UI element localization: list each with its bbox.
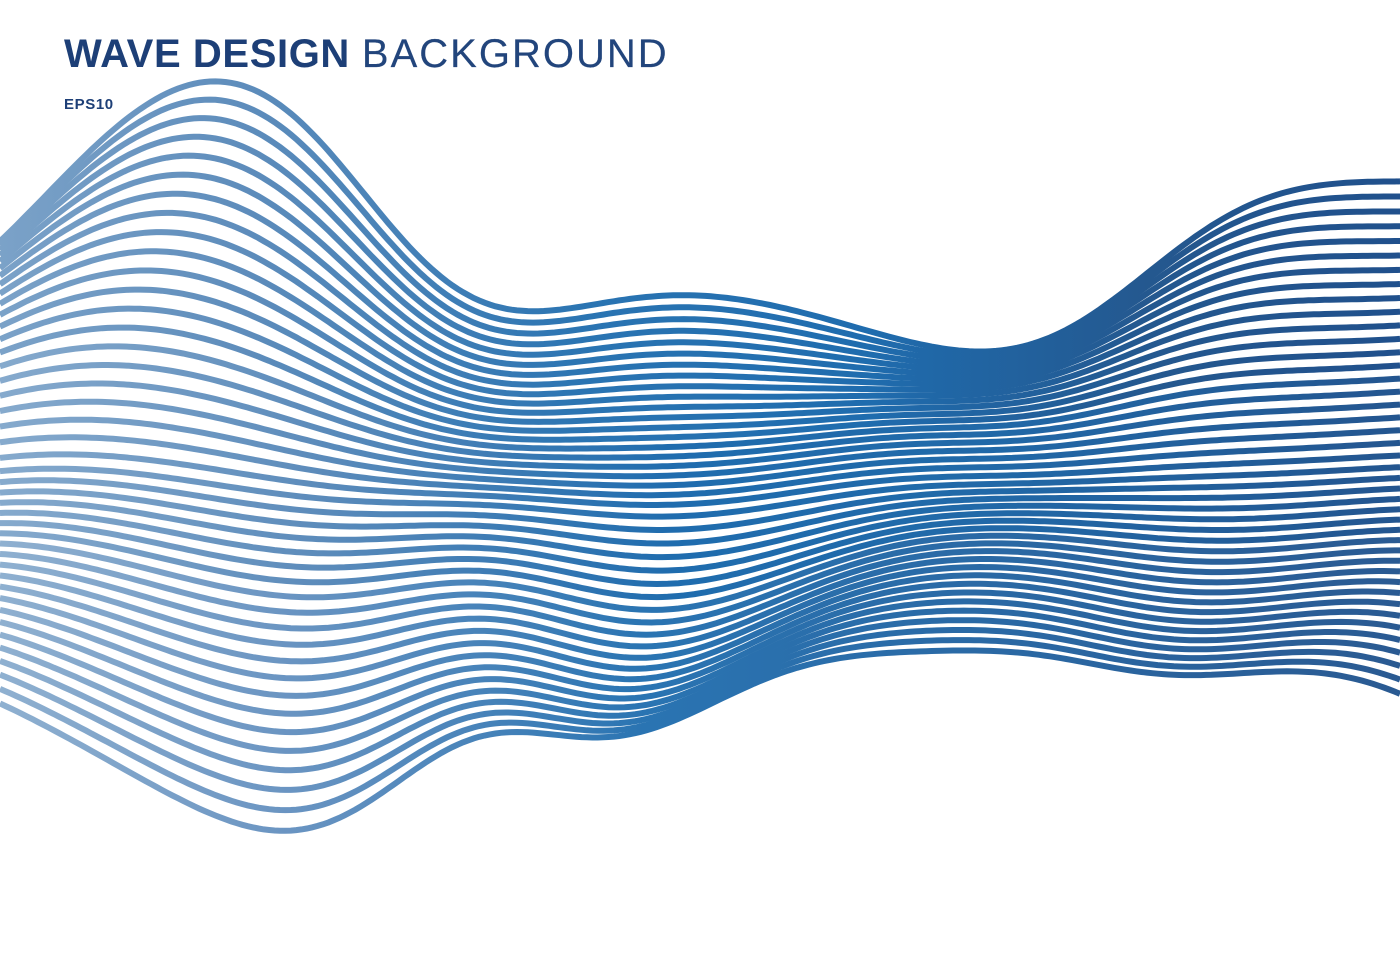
- title-light-text: BACKGROUND: [362, 32, 669, 76]
- page-title: WAVE DESIGNBACKGROUND: [64, 34, 669, 74]
- wave-line: [0, 651, 1400, 831]
- wave-line: [0, 309, 1400, 431]
- artboard: WAVE DESIGNBACKGROUND EPS10: [0, 0, 1400, 980]
- heading-block: WAVE DESIGNBACKGROUND EPS10: [64, 34, 669, 113]
- wave-line-group: [0, 81, 1400, 830]
- wave-pattern-graphic: [0, 0, 1400, 980]
- eps-version-label: EPS10: [64, 96, 669, 113]
- title-bold-text: WAVE DESIGN: [64, 32, 350, 76]
